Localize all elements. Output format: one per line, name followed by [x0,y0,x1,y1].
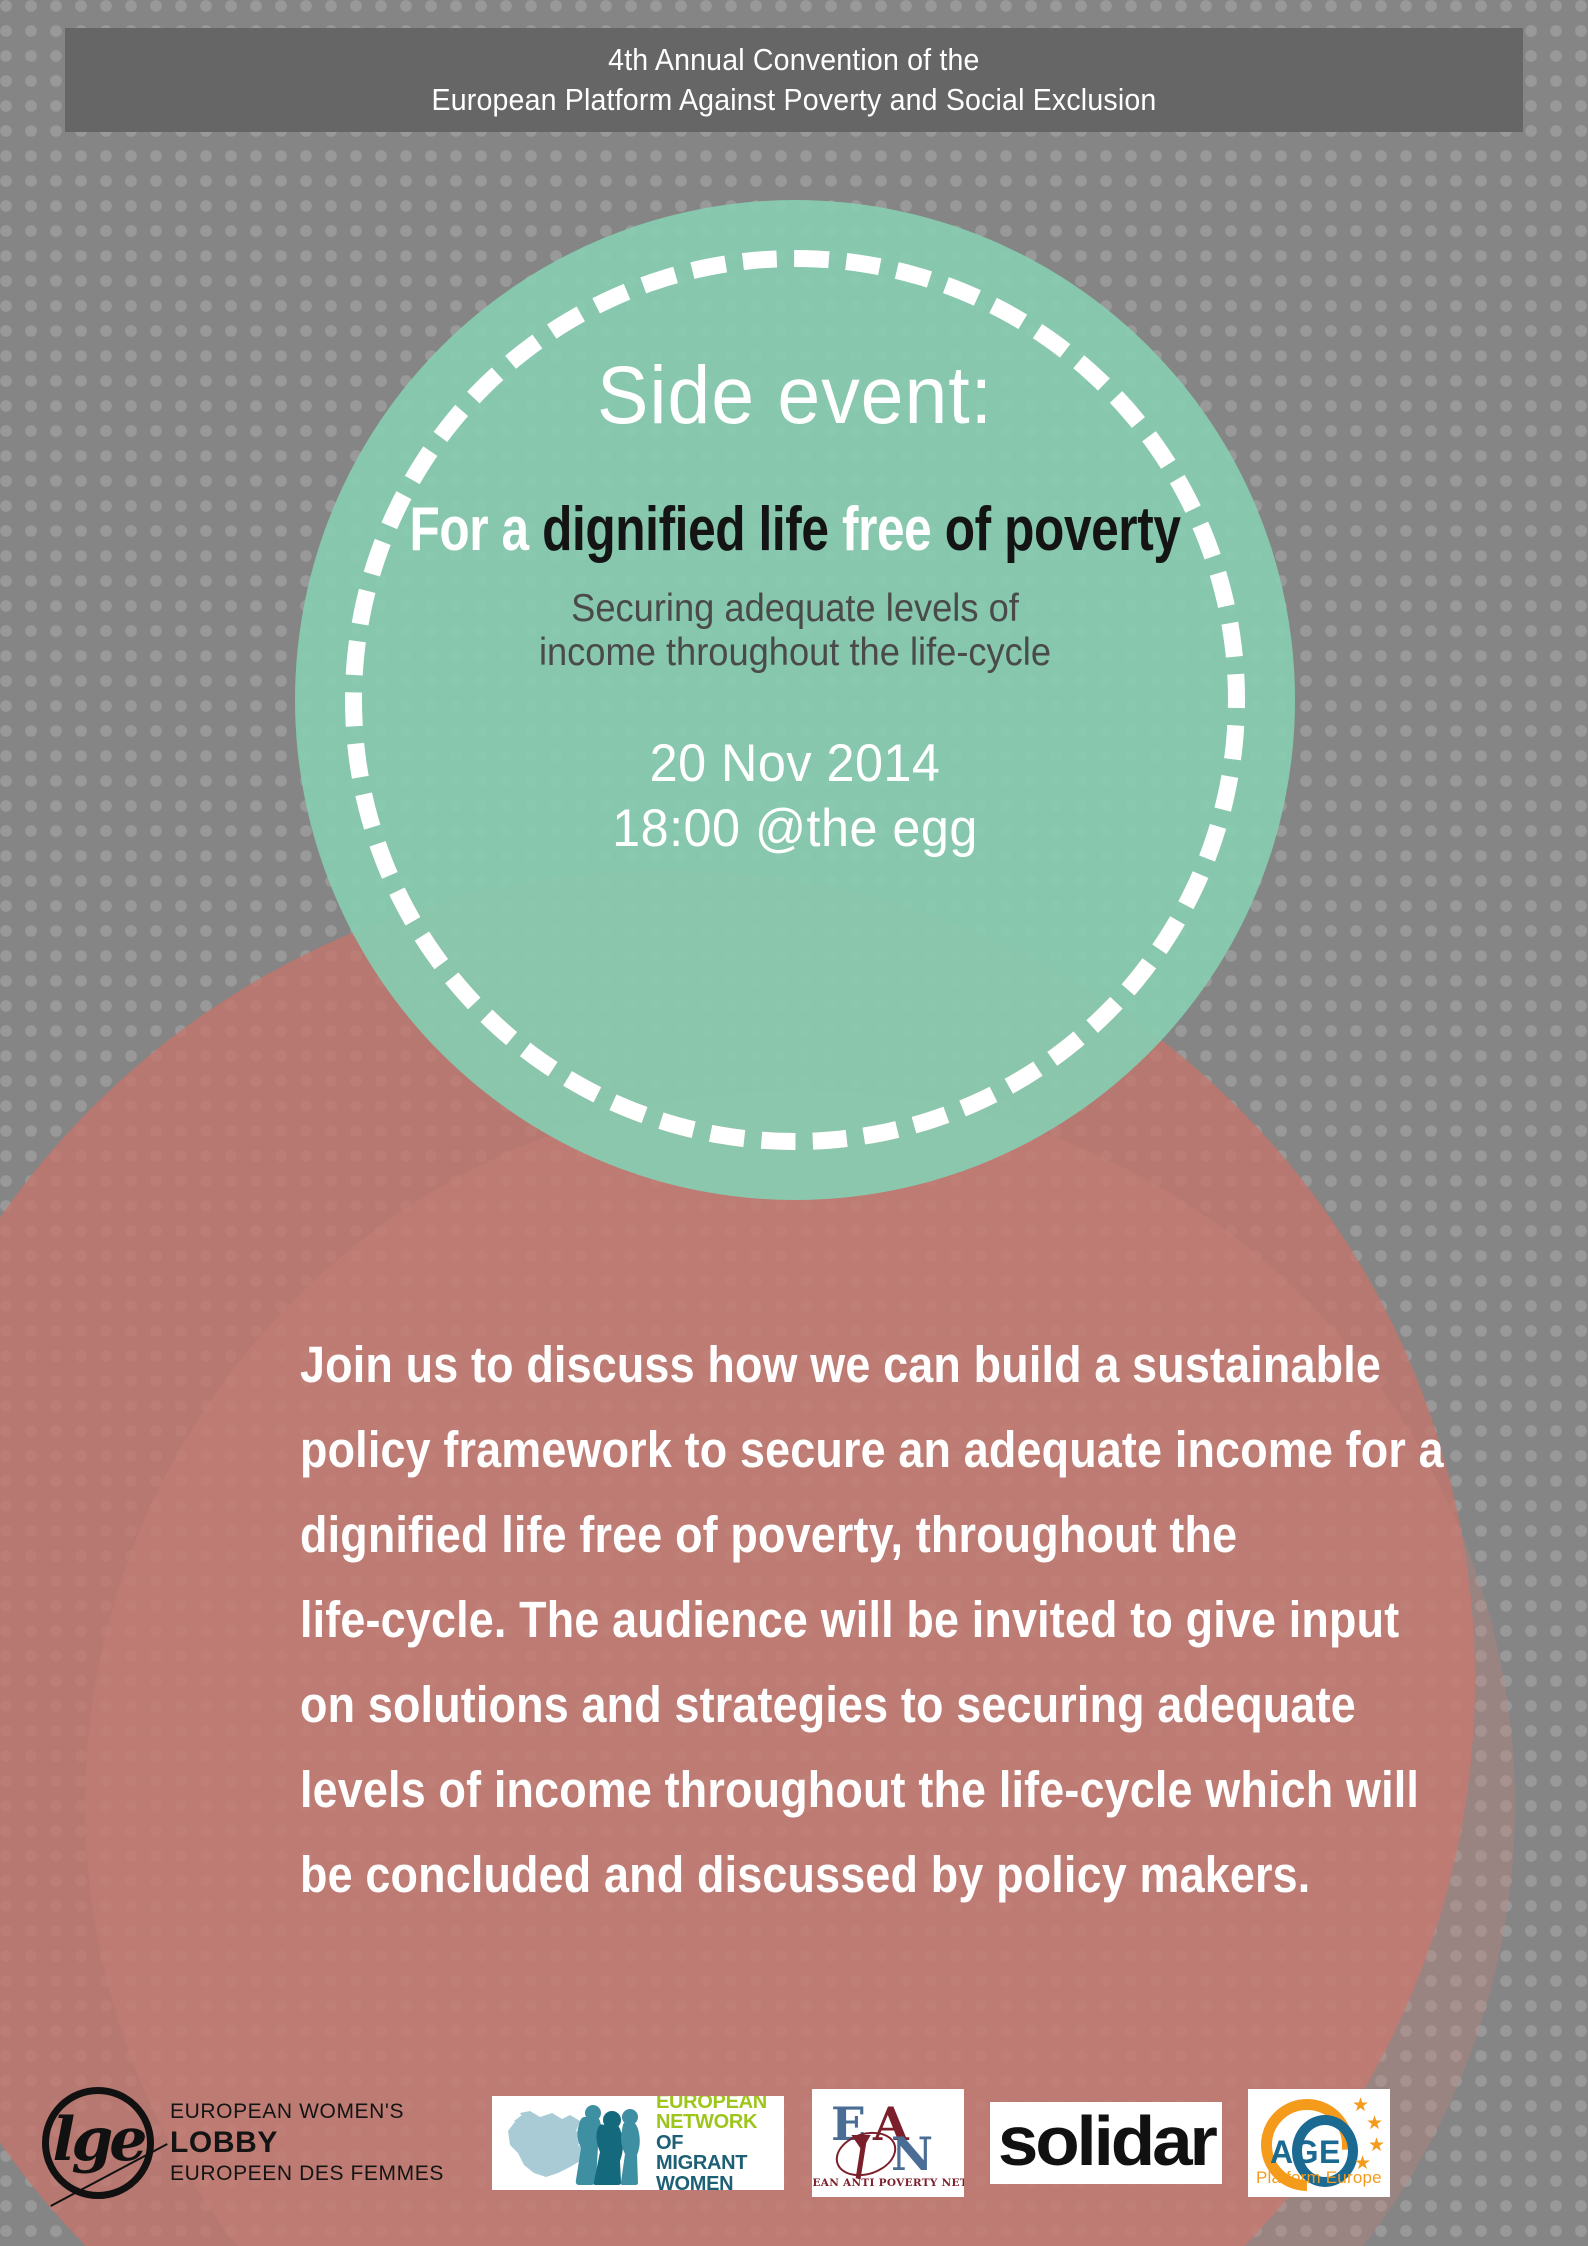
ewl-line-2: LOBBY [170,2125,444,2162]
solidar-tile: solidar [990,2102,1222,2184]
age-wordmark: AGE [1270,2134,1341,2171]
solidar-wordmark: solidar [998,2110,1215,2173]
age-subtitle: Platform Europe [1256,2168,1382,2188]
enmw-line-2: OF MIGRANT WOMEN [656,2133,776,2190]
description-line-1: Join us to discuss how we can build a su… [300,1322,1259,1407]
description-line-6: levels of income throughout the life-cyc… [300,1747,1259,1832]
ewl-wordmark: EUROPEAN WOMEN'S LOBBY EUROPEEN DES FEMM… [170,2099,444,2187]
ewl-circle-icon: lge [42,2087,154,2199]
logo-european-anti-poverty-network: E A N EUROPEAN ANTI POVERTY NETWORK [812,2089,964,2197]
logo-solidar: solidar [990,2102,1222,2184]
poster-root: 4th Annual Convention of the European Pl… [0,0,1588,2246]
enmw-line-1: EUROPEAN NETWORK [656,2096,776,2133]
enmw-wordmark: EUROPEAN NETWORK OF MIGRANT WOMEN [656,2096,776,2190]
ewl-line-1: EUROPEAN WOMEN'S [170,2099,444,2125]
age-stars-icon: ★ ★ ★ ★ [1338,2096,1384,2172]
eapn-tile: E A N EUROPEAN ANTI POVERTY NETWORK [812,2089,964,2197]
logo-european-womens-lobby: lge EUROPEAN WOMEN'S LOBBY EUROPEEN DES … [42,2087,444,2199]
enmw-map-and-women-icon [500,2101,650,2185]
ewl-monogram: lge [53,2110,144,2170]
logo-european-network-of-migrant-women: EUROPEAN NETWORK OF MIGRANT WOMEN [492,2096,784,2190]
description-line-3: dignified life free of poverty, througho… [300,1492,1259,1577]
description-line-5: on solutions and strategies to securing … [300,1662,1259,1747]
logo-age-platform-europe: ★ ★ ★ ★ AGE Platform Europe [1248,2089,1390,2197]
partner-logo-strip: lge EUROPEAN WOMEN'S LOBBY EUROPEEN DES … [0,2068,1588,2218]
age-tile: ★ ★ ★ ★ AGE Platform Europe [1248,2089,1390,2197]
header-line-2: European Platform Against Poverty and So… [432,82,1157,118]
event-description: Join us to discuss how we can build a su… [300,1322,1259,1917]
description-line-7: be concluded and discussed by policy mak… [300,1832,1259,1917]
eapn-letter-n: N [891,2131,933,2177]
header-line-1: 4th Annual Convention of the [608,42,979,78]
convention-header-bar: 4th Annual Convention of the European Pl… [65,28,1523,132]
description-line-4: life-cycle. The audience will be invited… [300,1577,1259,1662]
enmw-tile: EUROPEAN NETWORK OF MIGRANT WOMEN [492,2096,784,2190]
eapn-tagline: EUROPEAN ANTI POVERTY NETWORK [812,2177,964,2189]
ewl-line-3: EUROPEEN DES FEMMES [170,2161,444,2187]
eapn-monogram-icon: E A N [829,2101,947,2177]
description-line-2: policy framework to secure an adequate i… [300,1407,1259,1492]
teal-circle [295,200,1295,1200]
